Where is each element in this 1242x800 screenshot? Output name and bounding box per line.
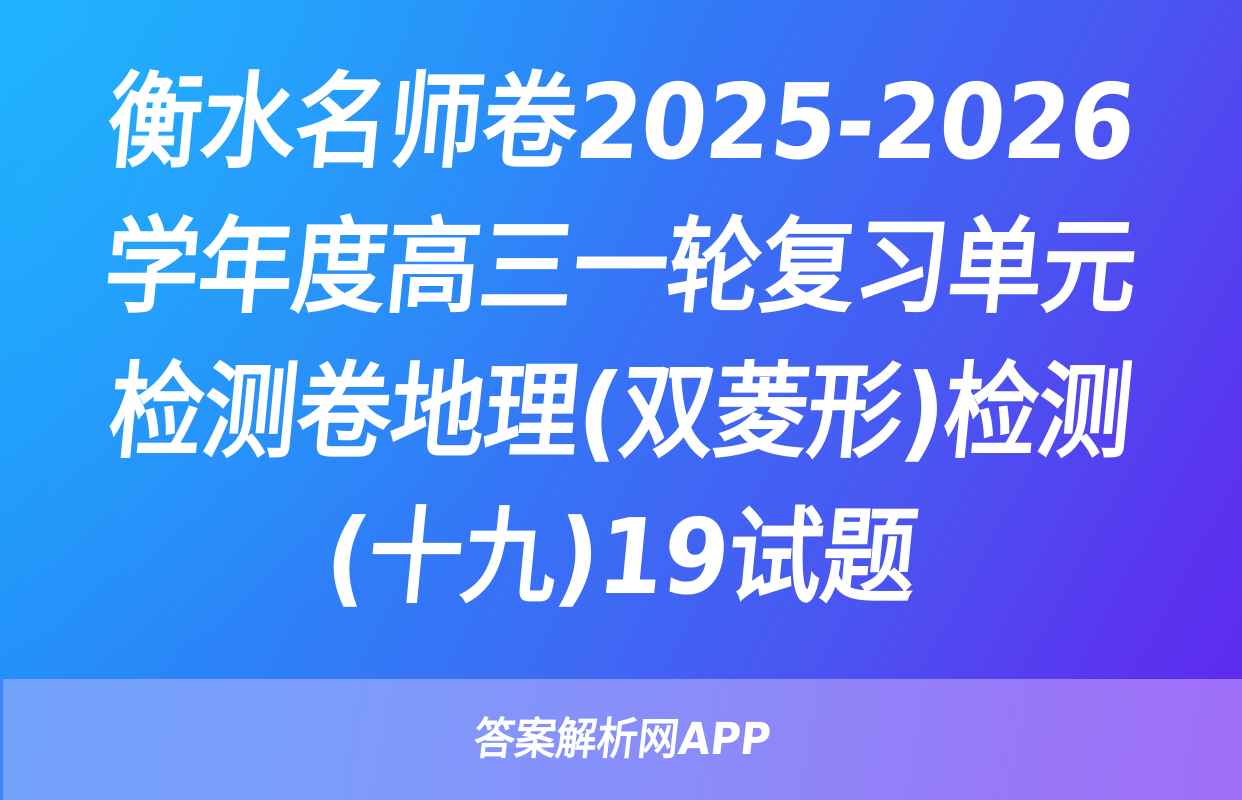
title-line-1: 衡水名师卷2025-2026 (101, 50, 1141, 195)
footer-brand-bar: 答案解析网APP (0, 679, 1242, 800)
poster-title-block: 衡水名师卷2025-2026 学年度高三一轮复习单元 检测卷地理(双菱形)检测 … (0, 0, 1242, 679)
footer-brand-label: 答案解析网APP (472, 716, 774, 764)
title-line-4: (十九)19试题 (319, 485, 922, 630)
title-line-3: 检测卷地理(双菱形)检测 (103, 340, 1139, 485)
title-line-2: 学年度高三一轮复习单元 (99, 195, 1144, 340)
poster-canvas: 衡水名师卷2025-2026 学年度高三一轮复习单元 检测卷地理(双菱形)检测 … (0, 0, 1242, 800)
